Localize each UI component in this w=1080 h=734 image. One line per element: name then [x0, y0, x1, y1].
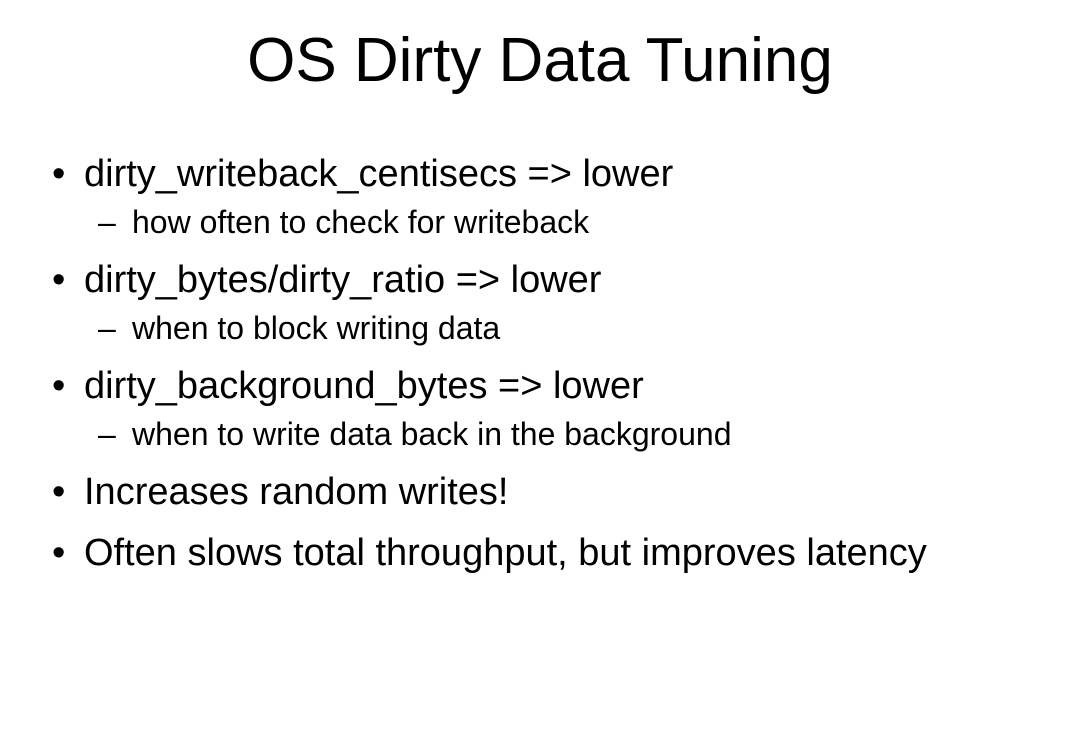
list-item: • Increases random writes!	[0, 470, 1080, 514]
sub-list-item: – when to write data back in the backgro…	[84, 416, 1020, 453]
list-item-label: Increases random writes!	[84, 470, 1020, 514]
dash-marker-icon: –	[98, 416, 120, 453]
dash-marker-icon: –	[98, 310, 120, 347]
sub-list-item: – how often to check for writeback	[84, 204, 1020, 241]
sub-list-item-label: when to write data back in the backgroun…	[132, 416, 980, 453]
slide-canvas: OS Dirty Data Tuning • dirty_writeback_c…	[0, 0, 1080, 734]
list-item-label: Often slows total throughput, but improv…	[84, 531, 1020, 575]
dash-marker-icon: –	[98, 204, 120, 241]
slide-body: • dirty_writeback_centisecs => lower – h…	[0, 152, 1080, 576]
list-item-label: dirty_writeback_centisecs => lower	[84, 152, 1020, 196]
list-item-label: dirty_background_bytes => lower	[84, 364, 1020, 408]
sub-bullet-list: – how often to check for writeback	[84, 204, 1020, 241]
bullet-marker-icon: •	[52, 531, 72, 575]
sub-list-item: – when to block writing data	[84, 310, 1020, 347]
sub-bullet-list: – when to write data back in the backgro…	[84, 416, 1020, 453]
bullet-list: • dirty_writeback_centisecs => lower – h…	[0, 152, 1080, 576]
sub-list-item-label: how often to check for writeback	[132, 204, 980, 241]
bullet-marker-icon: •	[52, 364, 72, 408]
list-item: • dirty_writeback_centisecs => lower – h…	[0, 152, 1080, 242]
page-title: OS Dirty Data Tuning	[0, 28, 1080, 95]
sub-bullet-list: – when to block writing data	[84, 310, 1020, 347]
list-item: • dirty_background_bytes => lower – when…	[0, 364, 1080, 454]
bullet-marker-icon: •	[52, 470, 72, 514]
bullet-marker-icon: •	[52, 152, 72, 196]
list-item: • dirty_bytes/dirty_ratio => lower – whe…	[0, 258, 1080, 348]
bullet-marker-icon: •	[52, 258, 72, 302]
sub-list-item-label: when to block writing data	[132, 310, 980, 347]
list-item-label: dirty_bytes/dirty_ratio => lower	[84, 258, 1020, 302]
list-item: • Often slows total throughput, but impr…	[0, 531, 1080, 575]
